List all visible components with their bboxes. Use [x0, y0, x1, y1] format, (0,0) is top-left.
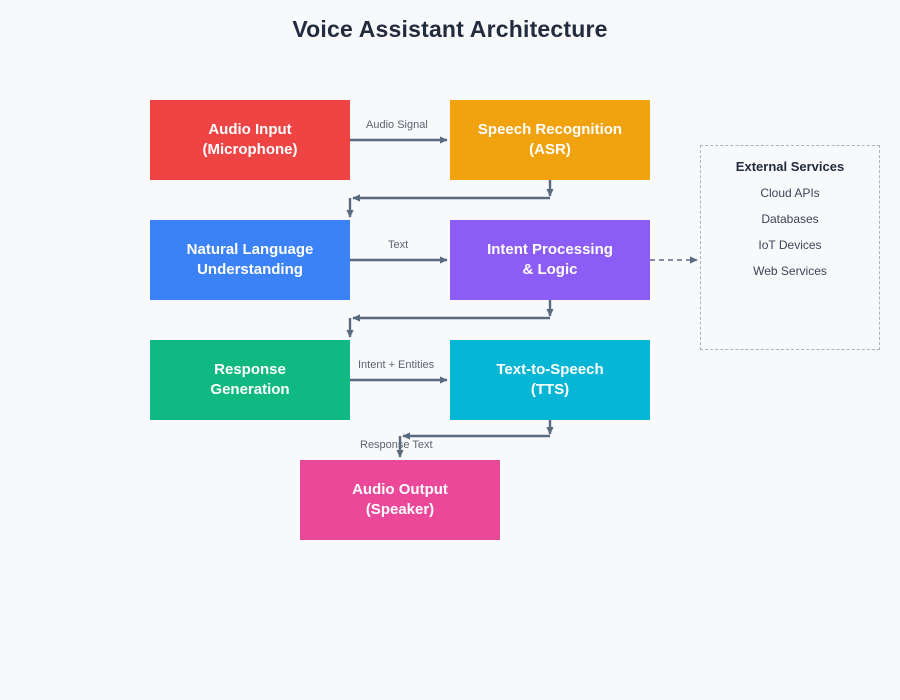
- external-service-item-cloud-apis: Cloud APIs: [701, 186, 879, 200]
- node-text-to-speech[interactable]: Text-to-Speech (TTS): [450, 340, 650, 420]
- external-service-item-web-services: Web Services: [701, 264, 879, 278]
- node-intent-processing[interactable]: Intent Processing & Logic: [450, 220, 650, 300]
- node-audio-input[interactable]: Audio Input (Microphone): [150, 100, 350, 180]
- node-nlu-label: Natural Language Understanding: [179, 240, 322, 280]
- external-services-panel: External Services Cloud APIs Databases I…: [700, 145, 880, 350]
- external-service-item-iot-devices: IoT Devices: [701, 238, 879, 252]
- page-title: Voice Assistant Architecture: [0, 16, 900, 43]
- node-speech-recognition[interactable]: Speech Recognition (ASR): [450, 100, 650, 180]
- external-service-item-databases: Databases: [701, 212, 879, 226]
- node-response-generation[interactable]: Response Generation: [150, 340, 350, 420]
- edge-label-intent-entities: Intent + Entities: [358, 359, 434, 371]
- node-natural-language-understanding[interactable]: Natural Language Understanding: [150, 220, 350, 300]
- node-audio-output-label: Audio Output (Speaker): [344, 480, 456, 520]
- node-audio-output[interactable]: Audio Output (Speaker): [300, 460, 500, 540]
- edge-label-text: Text: [388, 239, 408, 251]
- edge-label-response-text: Response Text: [360, 439, 433, 451]
- node-text-to-speech-label: Text-to-Speech (TTS): [488, 360, 611, 400]
- edge-label-audio-signal: Audio Signal: [366, 119, 428, 131]
- node-response-generation-label: Response Generation: [202, 360, 297, 400]
- node-intent-processing-label: Intent Processing & Logic: [479, 240, 621, 280]
- node-speech-recognition-label: Speech Recognition (ASR): [470, 120, 630, 160]
- diagram-canvas: Voice Assistant Architecture: [0, 0, 900, 700]
- node-audio-input-label: Audio Input (Microphone): [195, 120, 306, 160]
- external-services-title: External Services: [701, 159, 879, 174]
